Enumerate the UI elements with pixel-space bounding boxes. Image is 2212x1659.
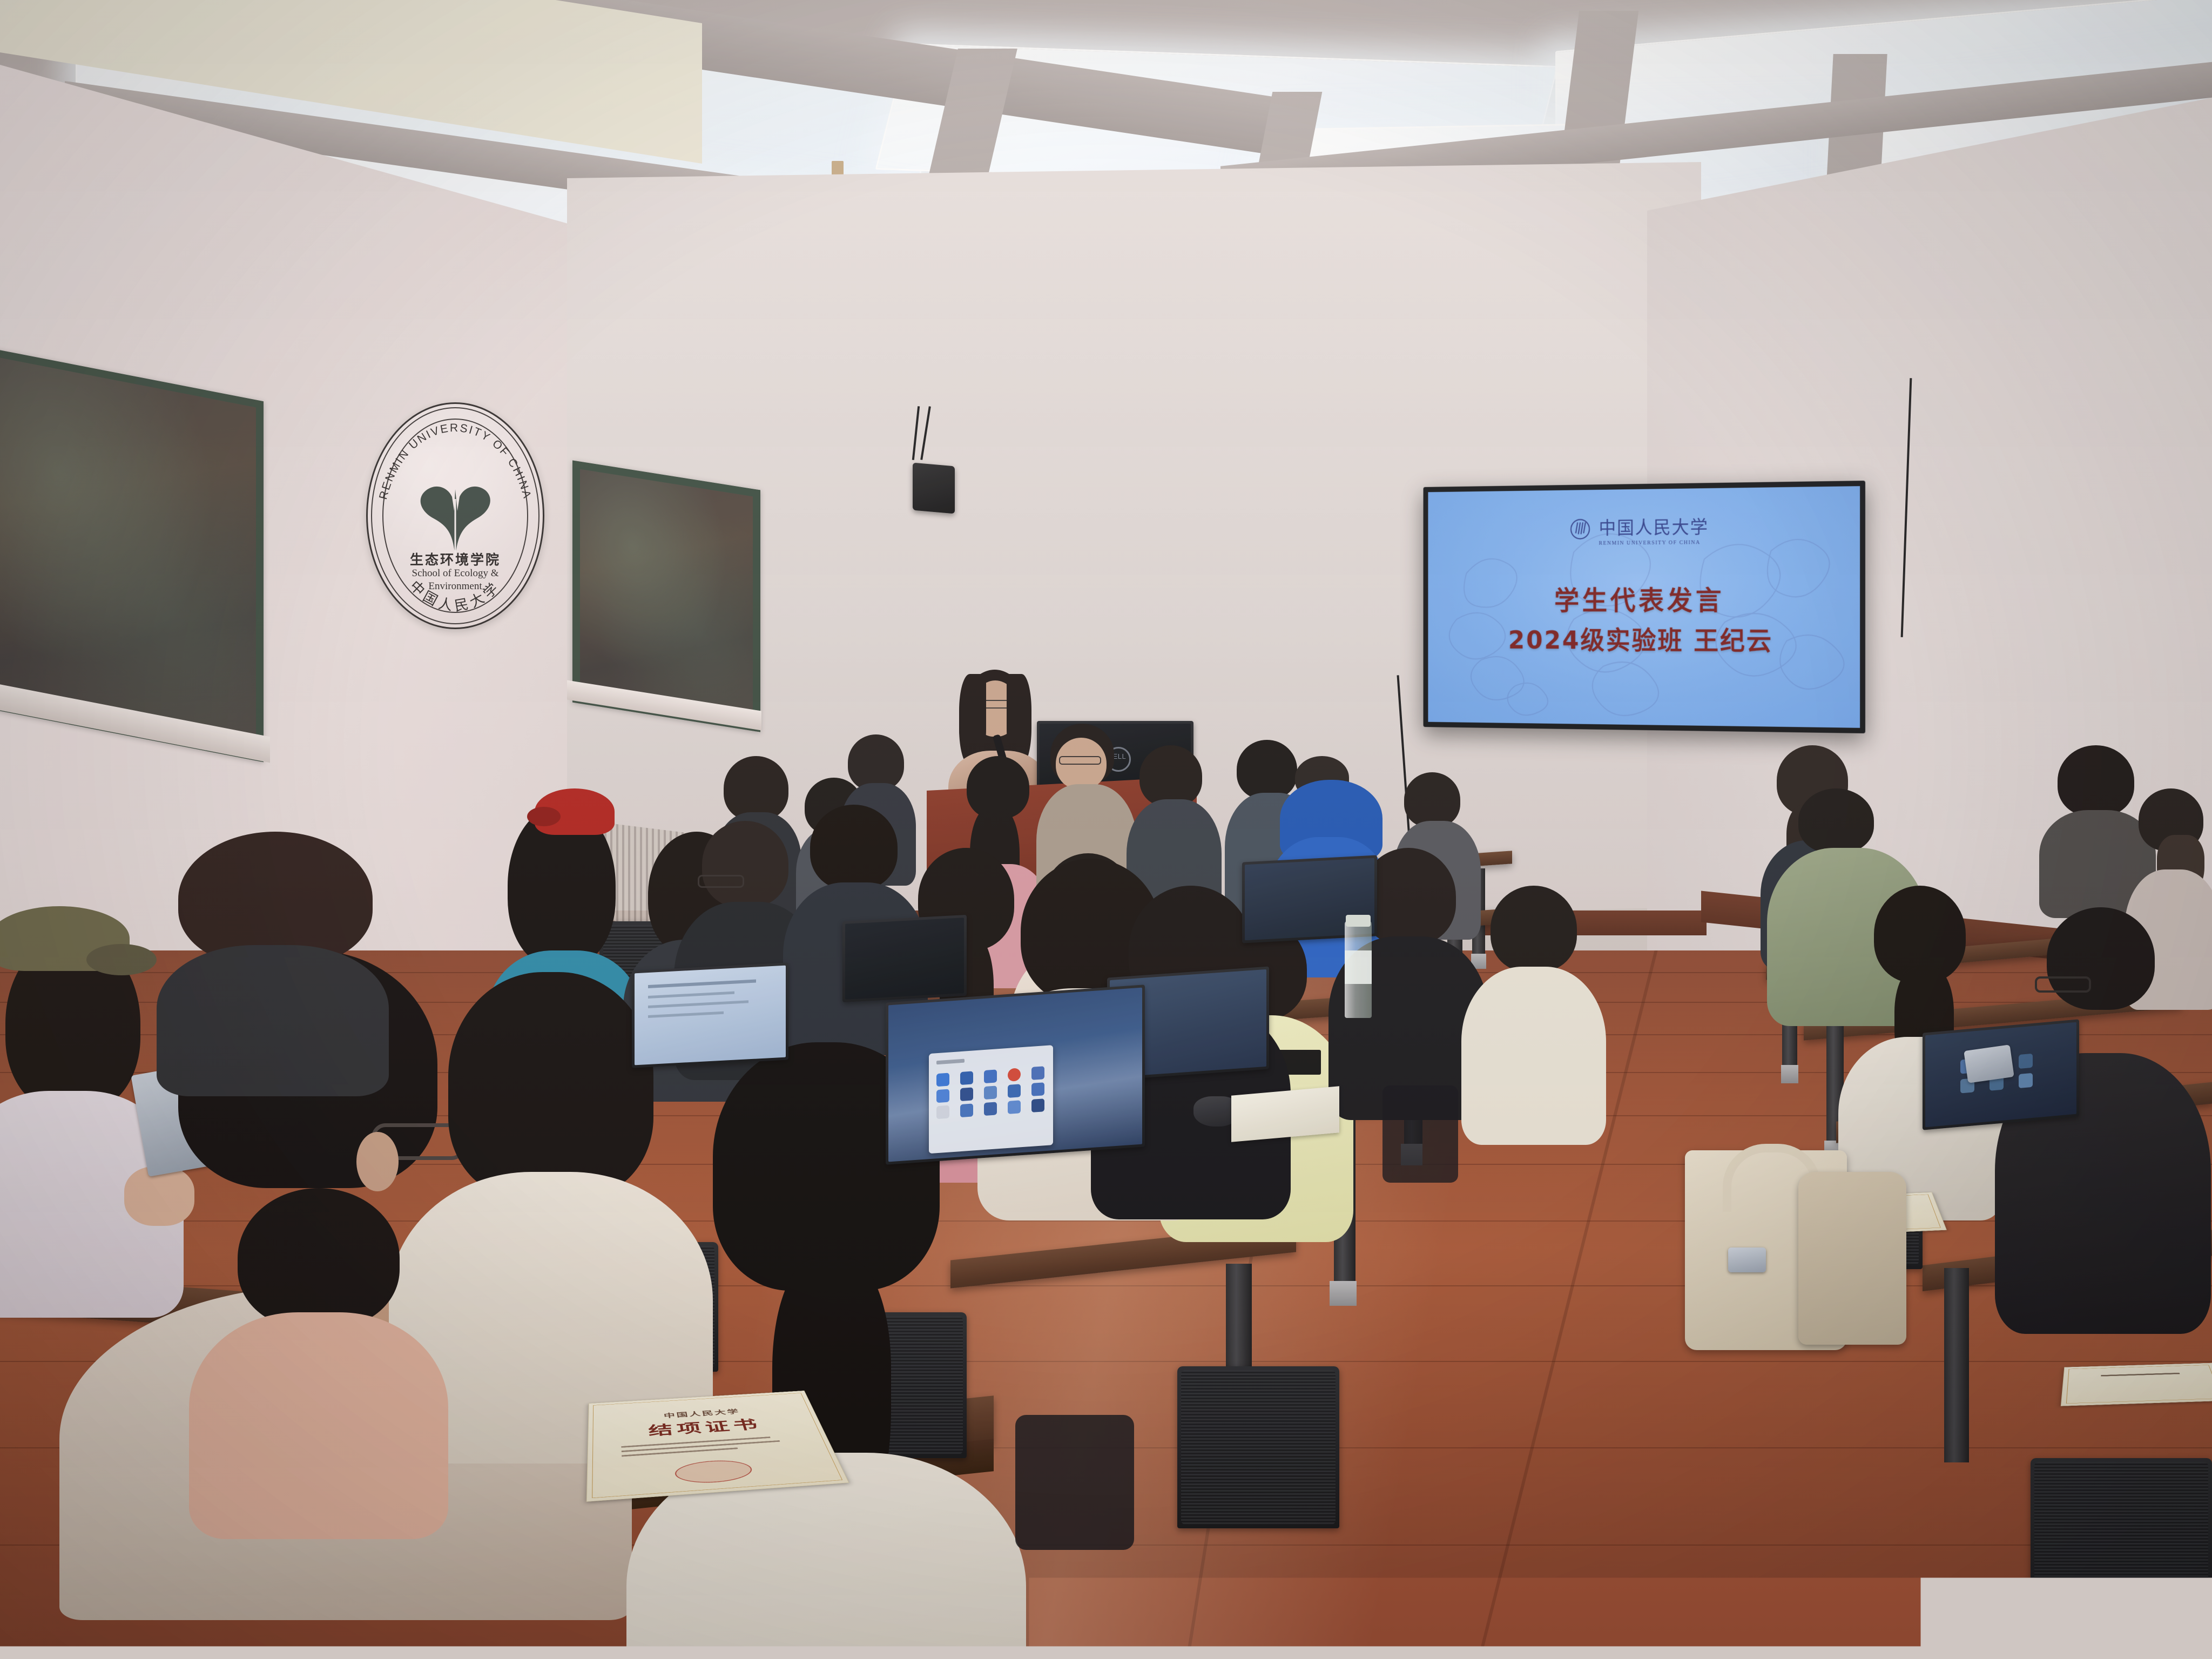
bag-under-desk [1015,1415,1134,1550]
hand [124,1166,194,1226]
laptop[interactable] [632,962,788,1068]
emblem-school-en-2: Environment [366,581,544,592]
desk-leg-foot [1330,1281,1357,1306]
cap-brim [527,807,561,826]
ruc-seal-icon [1569,518,1590,540]
cap-brim [86,944,157,975]
start-menu-panel[interactable] [929,1045,1053,1154]
chair [2031,1458,2212,1659]
ear [356,1132,399,1191]
university-emblem: RENMIN UNIVERSITY OF CHINA 中国人民大学 生态环境学院… [366,402,544,629]
bottle-cap-icon [1346,915,1371,927]
smartphone[interactable] [1964,1044,2014,1083]
wall-speaker [913,463,955,514]
classroom-photo: RENMIN UNIVERSITY OF CHINA 中国人民大学 生态环境学院… [0,0,2212,1659]
certificate[interactable] [2061,1363,2212,1406]
certificate-foreground[interactable]: 中国人民大学 结项证书 [586,1391,849,1502]
display-slide-line2: 2024级实验班 王纪云 [1428,619,1860,658]
chair [1177,1366,1339,1528]
display-university-logo: 中国人民大学 RENMIN UNIVERSITY OF CHINA [1428,511,1860,548]
desk-leg-foot [1781,1065,1798,1083]
notebook [1231,1086,1339,1142]
display-logo-cn: 中国人民大学 [1599,512,1709,539]
wall-display[interactable]: 中国人民大学 RENMIN UNIVERSITY OF CHINA 学生代表发言… [1424,481,1865,733]
ginkgo-leaf-icon [412,477,498,558]
glasses-icon [2035,976,2091,993]
emblem-school-cn: 生态环境学院 [366,549,544,569]
desk-leg [1944,1268,1969,1462]
backpack [1798,1172,1906,1345]
laptop-foreground[interactable] [886,984,1145,1165]
glasses-icon [698,875,744,888]
display-slide-line1: 学生代表发言 [1428,579,1860,618]
laptop[interactable] [842,915,967,1002]
bag-under-desk [1382,1085,1458,1183]
glasses-icon [1059,756,1101,765]
display-screen: 中国人民大学 RENMIN UNIVERSITY OF CHINA 学生代表发言… [1428,486,1860,728]
bottle-label [1345,950,1372,984]
emblem-school-en-1: School of Ecology & [366,568,544,579]
smartphone-in-bag [1728,1247,1766,1272]
display-logo-en: RENMIN UNIVERSITY OF CHINA [1599,539,1709,546]
